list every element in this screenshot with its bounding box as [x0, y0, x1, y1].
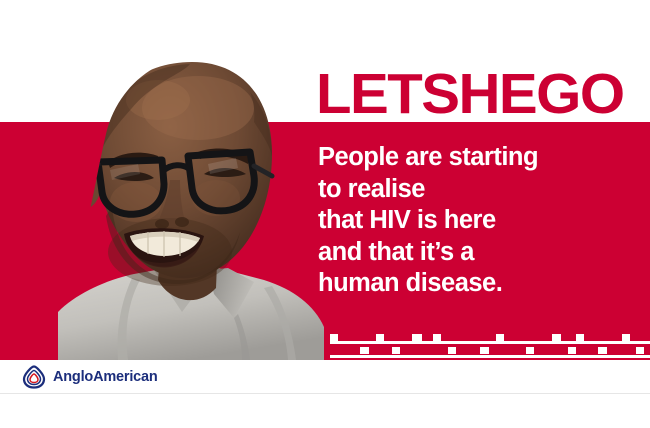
- brick-row-lower: [330, 347, 650, 354]
- anglo-american-logo-text: AngloAmerican: [53, 369, 158, 385]
- letshego-wordmark: LETSHEGO: [316, 63, 636, 125]
- headline-block: People are starting to realise that HIV …: [318, 142, 628, 300]
- headline-line: and that it’s a: [318, 237, 628, 269]
- headline-line: to realise: [318, 174, 628, 206]
- brick-rule-upper: [330, 341, 650, 344]
- headline-line: People are starting: [318, 142, 628, 174]
- brick-row-upper: [330, 334, 650, 341]
- page-bottom-padding: [0, 394, 650, 428]
- headline-line: human disease.: [318, 268, 628, 300]
- letshego-wordmark-text: LETSHEGO: [316, 63, 636, 125]
- headline-line: that HIV is here: [318, 205, 628, 237]
- brick-pattern-motif: [330, 332, 650, 360]
- anglo-american-logo-mark: [22, 365, 46, 389]
- brick-rule-lower: [330, 355, 650, 358]
- anglo-american-logo: AngloAmerican: [22, 365, 158, 389]
- poster-card: LETSHEGO People are starting to realise …: [0, 0, 650, 394]
- sponsor-logo-strip: AngloAmerican: [0, 360, 650, 394]
- portrait-photo: [58, 56, 324, 360]
